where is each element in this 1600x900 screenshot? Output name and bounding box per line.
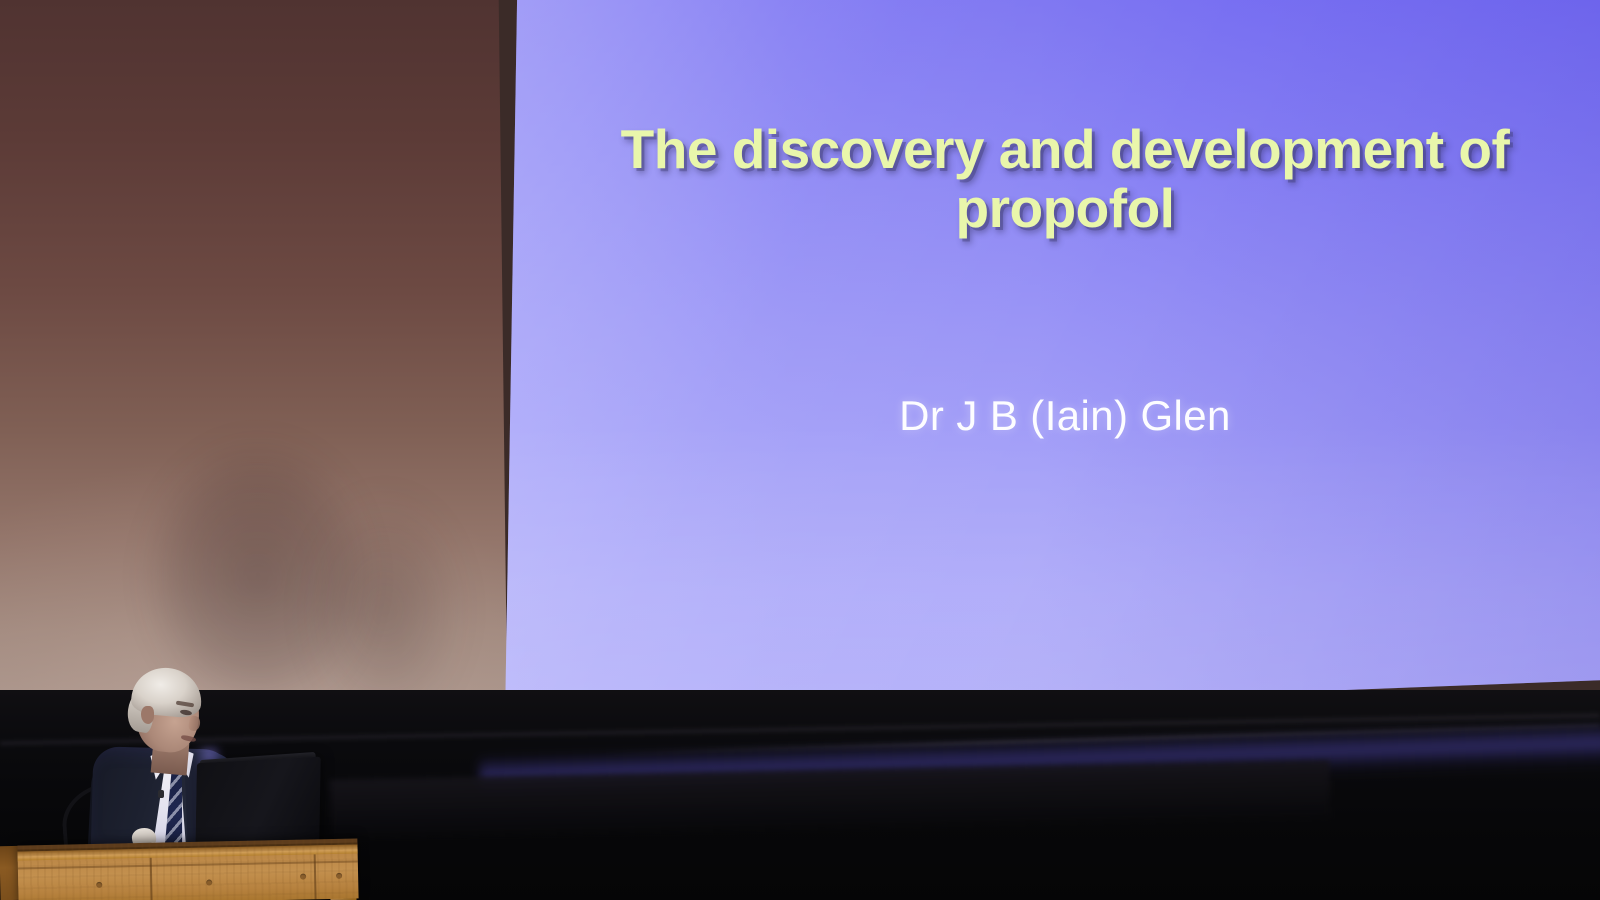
podium-dowel: [206, 879, 212, 885]
projection-screen[interactable]: The discovery and development of propofo…: [505, 0, 1600, 722]
presentation-slide: The discovery and development of propofo…: [505, 0, 1600, 722]
lecture-scene: The discovery and development of propofo…: [0, 0, 1600, 900]
podium[interactable]: [17, 838, 358, 900]
slide-title: The discovery and development of propofo…: [593, 120, 1537, 239]
lapel-microphone-icon: [158, 790, 164, 798]
speaker-shadow-secondary: [290, 430, 500, 730]
podium-horizontal-seam: [18, 860, 358, 869]
speaker-ear: [141, 706, 154, 724]
podium-dowel: [336, 873, 342, 879]
podium-top-rail: [17, 842, 357, 860]
podium-dowel: [300, 874, 306, 880]
podium-dowel: [96, 882, 102, 888]
slide-presenter-name: Dr J B (Iain) Glen: [615, 392, 1515, 440]
